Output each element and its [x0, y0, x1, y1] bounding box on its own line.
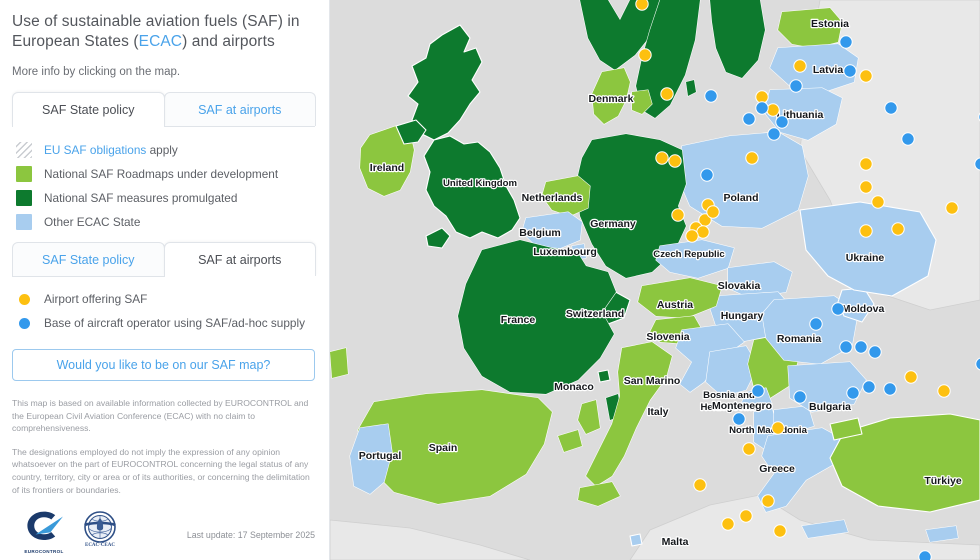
airport-marker[interactable] — [860, 225, 872, 237]
legend-airports: Airport offering SAF Base of aircraft op… — [12, 287, 315, 335]
blue-dot-icon — [19, 318, 30, 329]
legend-label-roadmaps: National SAF Roadmaps under development — [44, 167, 278, 181]
country-label: Austria — [657, 299, 693, 311]
airport-marker[interactable] — [639, 49, 651, 61]
join-saf-map-button[interactable]: Would you like to be on our SAF map? — [12, 349, 315, 381]
tabs-state-policy: SAF State policy SAF at airports — [12, 92, 315, 127]
airport-marker[interactable] — [746, 152, 758, 164]
legend-label-operator-base: Base of aircraft operator using SAF/ad-h… — [44, 316, 305, 330]
airport-marker[interactable] — [762, 495, 774, 507]
legend-label-eu-obligations: EU SAF obligations apply — [44, 143, 178, 157]
legend-row-roadmaps: National SAF Roadmaps under development — [12, 163, 315, 184]
operator-marker[interactable] — [919, 551, 931, 560]
airport-marker[interactable] — [774, 525, 786, 537]
country-label: France — [501, 314, 536, 326]
airport-marker[interactable] — [946, 202, 958, 214]
country-label: Spain — [429, 442, 458, 454]
saf-map-page: Use of sustainable aviation fuels (SAF) … — [0, 0, 980, 560]
airport-marker[interactable] — [938, 385, 950, 397]
sidebar-footer: EUROCONTROL ECAC·CEAC Last update: 17 S — [12, 505, 315, 554]
country-label: Bulgaria — [809, 401, 851, 413]
operator-marker[interactable] — [768, 128, 780, 140]
operator-marker[interactable] — [794, 391, 806, 403]
operator-marker[interactable] — [790, 80, 802, 92]
eurocontrol-logo-icon — [22, 509, 66, 543]
page-title: Use of sustainable aviation fuels (SAF) … — [12, 12, 315, 52]
country-misc-green[interactable] — [330, 348, 348, 378]
legend-row-eu-obligations: EU SAF obligations apply — [12, 139, 315, 160]
country-label: Romania — [777, 333, 822, 345]
operator-marker[interactable] — [733, 413, 745, 425]
eurocontrol-logo: EUROCONTROL — [22, 509, 66, 554]
operator-marker[interactable] — [743, 113, 755, 125]
country-label: Ireland — [370, 162, 404, 174]
hatch-swatch-icon — [16, 142, 32, 158]
airport-marker[interactable] — [772, 422, 784, 434]
svg-text:ECAC·CEAC: ECAC·CEAC — [85, 543, 115, 548]
disclaimer-paragraph-2: The designations employed do not imply t… — [12, 446, 315, 496]
legend-label-airport-offering: Airport offering SAF — [44, 292, 147, 306]
operator-marker[interactable] — [776, 116, 788, 128]
color-swatch-roadmap-icon — [16, 166, 32, 182]
last-update-text: Last update: 17 September 2025 — [187, 530, 315, 554]
country-label: Belgium — [519, 227, 560, 239]
airport-marker[interactable] — [872, 196, 884, 208]
operator-marker[interactable] — [884, 383, 896, 395]
operator-marker[interactable] — [810, 318, 822, 330]
airport-marker[interactable] — [860, 158, 872, 170]
country-label: Ukraine — [846, 252, 885, 264]
country-label: Estonia — [811, 18, 849, 30]
country-label: Luxembourg — [533, 246, 597, 258]
country-label: Monaco — [554, 381, 594, 393]
airport-marker[interactable] — [694, 479, 706, 491]
europe-saf-map[interactable]: United KingdomIrelandDenmarkNetherlandsB… — [330, 0, 980, 560]
operator-marker[interactable] — [844, 65, 856, 77]
airport-marker[interactable] — [892, 223, 904, 235]
legend-row-operator-base: Base of aircraft operator using SAF/ad-h… — [12, 311, 315, 335]
operator-marker[interactable] — [869, 346, 881, 358]
country-label: Slovakia — [718, 280, 761, 292]
operator-marker[interactable] — [885, 102, 897, 114]
airport-marker[interactable] — [740, 510, 752, 522]
country-label: Montenegro — [712, 400, 772, 412]
ecac-logo: ECAC·CEAC — [78, 505, 122, 554]
country-label: Latvia — [813, 64, 844, 76]
country-label: North Macedonia — [729, 425, 807, 436]
airport-marker[interactable] — [661, 88, 673, 100]
tabs-airports: SAF State policy SAF at airports — [12, 242, 315, 277]
airport-marker[interactable] — [686, 230, 698, 242]
country-label: Hungary — [721, 310, 764, 322]
color-swatch-other-ecac-icon — [16, 214, 32, 230]
disclaimer-block: This map is based on available informati… — [12, 397, 315, 496]
country-label: San Marino — [624, 375, 681, 387]
map-svg[interactable]: United KingdomIrelandDenmarkNetherlandsB… — [330, 0, 980, 560]
country-label: Czech Republic — [653, 249, 725, 260]
airport-marker[interactable] — [669, 155, 681, 167]
legend-label-promulgated: National SAF measures promulgated — [44, 191, 237, 205]
country-label: Italy — [647, 406, 668, 418]
airport-marker[interactable] — [743, 443, 755, 455]
yellow-dot-icon — [19, 294, 30, 305]
page-subtitle: More info by clicking on the map. — [12, 66, 315, 78]
operator-marker[interactable] — [855, 341, 867, 353]
airport-marker[interactable] — [636, 0, 648, 10]
operator-marker[interactable] — [863, 381, 875, 393]
disclaimer-paragraph-1: This map is based on available informati… — [12, 397, 315, 435]
legend-text-eu-obligations: apply — [146, 143, 177, 157]
airport-marker[interactable] — [722, 518, 734, 530]
operator-marker[interactable] — [847, 387, 859, 399]
country-label: Germany — [590, 218, 636, 230]
legend-link-eu-obligations[interactable]: EU SAF obligations — [44, 143, 146, 157]
operator-marker[interactable] — [756, 102, 768, 114]
operator-marker[interactable] — [752, 385, 764, 397]
airport-marker[interactable] — [767, 104, 779, 116]
airport-marker[interactable] — [905, 371, 917, 383]
legend-state-policy: EU SAF obligations apply National SAF Ro… — [12, 139, 315, 232]
country-label: Türkiye — [924, 475, 962, 487]
airport-marker[interactable] — [707, 206, 719, 218]
tab-saf-state-policy[interactable]: SAF State policy — [12, 92, 165, 126]
airport-marker[interactable] — [672, 209, 684, 221]
airport-marker[interactable] — [860, 181, 872, 193]
legend-row-promulgated: National SAF measures promulgated — [12, 187, 315, 208]
eurocontrol-logo-label: EUROCONTROL — [22, 549, 66, 554]
country-label: Slovenia — [646, 331, 689, 343]
country-monaco[interactable] — [598, 370, 610, 382]
airport-marker[interactable] — [794, 60, 806, 72]
operator-marker[interactable] — [840, 341, 852, 353]
operator-marker[interactable] — [832, 303, 844, 315]
country-label: Moldova — [842, 303, 885, 315]
operator-marker[interactable] — [701, 169, 713, 181]
country-label: Netherlands — [522, 192, 583, 204]
country-label: Portugal — [359, 450, 402, 462]
page-title-part2: ) and airports — [182, 33, 275, 50]
legend-row-other-ecac: Other ECAC State — [12, 211, 315, 232]
country-label: Switzerland — [566, 308, 624, 320]
color-swatch-promulgated-icon — [16, 190, 32, 206]
operator-marker[interactable] — [705, 90, 717, 102]
country-label: Denmark — [589, 93, 634, 105]
ecac-link[interactable]: ECAC — [139, 33, 182, 50]
logo-group: EUROCONTROL ECAC·CEAC — [12, 505, 122, 554]
tab-saf-at-airports[interactable]: SAF at airports — [164, 92, 317, 126]
airport-marker[interactable] — [860, 70, 872, 82]
legend-label-other-ecac: Other ECAC State — [44, 215, 140, 229]
airport-marker[interactable] — [656, 152, 668, 164]
operator-marker[interactable] — [840, 36, 852, 48]
country-label: Poland — [723, 192, 758, 204]
operator-marker[interactable] — [902, 133, 914, 145]
tab2-saf-state-policy[interactable]: SAF State policy — [12, 242, 165, 276]
tab2-saf-at-airports[interactable]: SAF at airports — [164, 242, 317, 276]
country-malta[interactable] — [630, 534, 642, 546]
country-label: United Kingdom — [443, 178, 517, 189]
country-label: Malta — [662, 536, 689, 548]
sidebar-panel: Use of sustainable aviation fuels (SAF) … — [0, 0, 330, 560]
legend-row-airport-offering: Airport offering SAF — [12, 287, 315, 311]
ecac-logo-icon: ECAC·CEAC — [78, 505, 122, 549]
country-label: Greece — [759, 463, 795, 475]
